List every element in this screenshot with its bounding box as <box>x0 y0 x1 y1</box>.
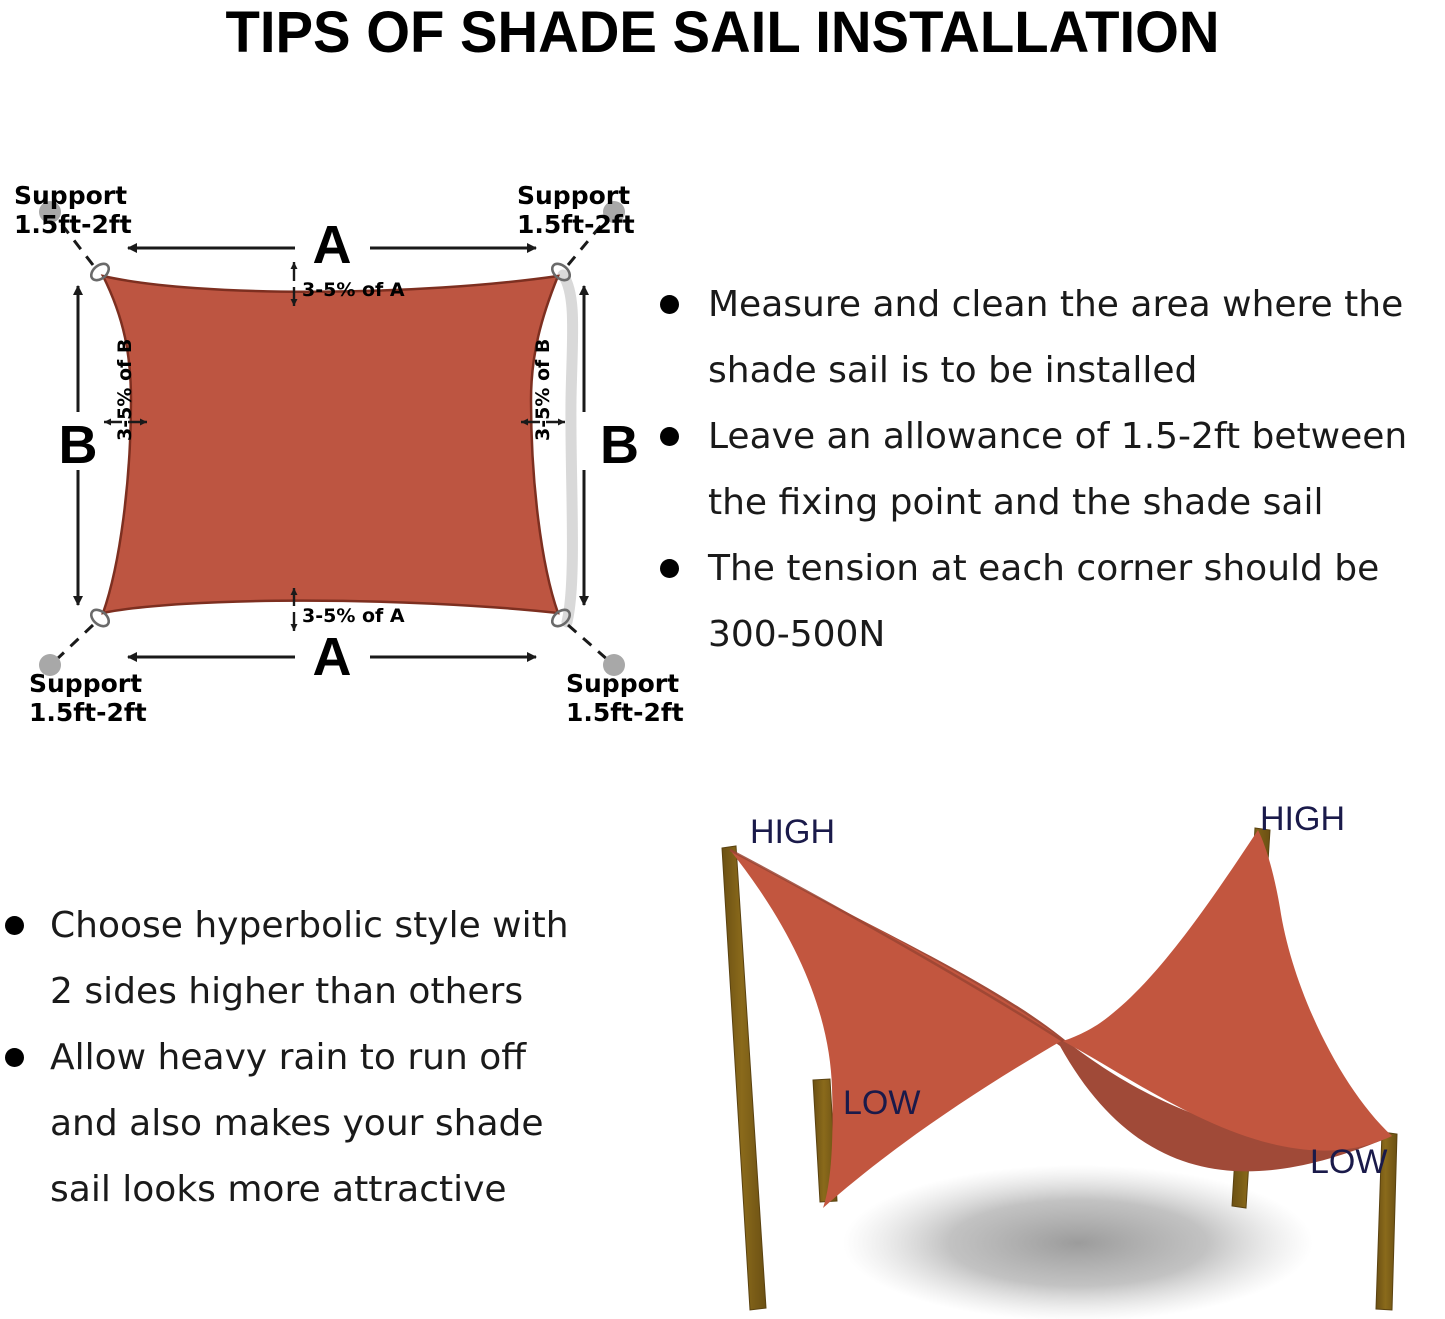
list-item-text: Leave an allowance of 1.5-2ft between <box>708 404 1445 470</box>
label-high-left: HIGH <box>750 813 835 851</box>
list-item-text: Measure and clean the area where the <box>708 272 1445 338</box>
bullet-dot-icon <box>660 427 679 446</box>
list-item: 2 sides higher than others <box>0 959 630 1025</box>
list-item: 300-500N <box>650 602 1445 668</box>
bullet-dot-icon <box>660 295 679 314</box>
hyperbolic-sail-diagram: HIGH HIGH LOW LOW <box>680 788 1445 1319</box>
list-item-text: shade sail is to be installed <box>708 338 1445 404</box>
list-item-text: Choose hyperbolic style with <box>50 893 630 959</box>
list-item-text: 2 sides higher than others <box>50 959 630 1025</box>
page-title: TIPS OF SHADE SAIL INSTALLATION <box>22 0 1424 66</box>
label-low-right: LOW <box>1310 1143 1387 1181</box>
infographic-page: TIPS OF SHADE SAIL INSTALLATION <box>0 0 1445 1319</box>
dim-label-b-left: B <box>59 415 98 475</box>
list-item-text: The tension at each corner should be <box>708 536 1445 602</box>
support-label-top-left: Support 1.5ft-2ft <box>14 181 132 239</box>
bullet-dot-icon <box>5 1048 24 1067</box>
list-item: Measure and clean the area where the <box>650 272 1445 338</box>
list-item: Choose hyperbolic style with <box>0 893 630 959</box>
post-high-left <box>722 846 766 1310</box>
support-label-line1: Support <box>29 669 147 698</box>
sag-label-left: 3-5% of B <box>114 339 136 441</box>
support-label-line1: Support <box>566 669 684 698</box>
list-item-text: the fixing point and the shade sail <box>708 470 1445 536</box>
list-item-text: and also makes your shade <box>50 1091 630 1157</box>
list-item: and also makes your shade <box>0 1091 630 1157</box>
list-item: Leave an allowance of 1.5-2ft between <box>650 404 1445 470</box>
dim-label-a-top: A <box>313 215 352 275</box>
list-item: the fixing point and the shade sail <box>650 470 1445 536</box>
installation-tips-list: Measure and clean the area where the sha… <box>650 272 1445 668</box>
list-item-text: Allow heavy rain to run off <box>50 1025 630 1091</box>
hyperbolic-style-tips-list: Choose hyperbolic style with 2 sides hig… <box>0 893 630 1223</box>
dim-label-b-right: B <box>600 415 639 475</box>
sag-label-top: 3-5% of A <box>302 279 405 301</box>
label-high-right: HIGH <box>1260 800 1345 838</box>
sag-label-bottom: 3-5% of A <box>302 605 405 627</box>
support-label-line2: 1.5ft-2ft <box>517 210 635 239</box>
support-label-line2: 1.5ft-2ft <box>14 210 132 239</box>
sail-shape <box>103 275 573 635</box>
rect-sail-diagram: A A B B 3-5% of A 3-5% of A <box>0 150 700 910</box>
support-label-line1: Support <box>517 181 635 210</box>
support-label-top-right: Support 1.5ft-2ft <box>517 181 635 239</box>
list-item: sail looks more attractive <box>0 1157 630 1223</box>
list-item-text: sail looks more attractive <box>50 1157 630 1223</box>
list-item: Allow heavy rain to run off <box>0 1025 630 1091</box>
list-item: shade sail is to be installed <box>650 338 1445 404</box>
bullet-dot-icon <box>5 916 24 935</box>
sail-canvas <box>103 276 558 613</box>
list-item: The tension at each corner should be <box>650 536 1445 602</box>
bullet-dot-icon <box>660 559 679 578</box>
dim-label-a-bottom: A <box>313 627 352 687</box>
support-label-line1: Support <box>14 181 132 210</box>
sag-label-right: 3-5% of B <box>532 339 554 441</box>
label-low-left: LOW <box>843 1084 920 1122</box>
support-label-bottom-left: Support 1.5ft-2ft <box>29 669 147 727</box>
support-label-bottom-right: Support 1.5ft-2ft <box>566 669 684 727</box>
support-label-line2: 1.5ft-2ft <box>566 698 684 727</box>
list-item-text: 300-500N <box>708 602 1445 668</box>
support-label-line2: 1.5ft-2ft <box>29 698 147 727</box>
